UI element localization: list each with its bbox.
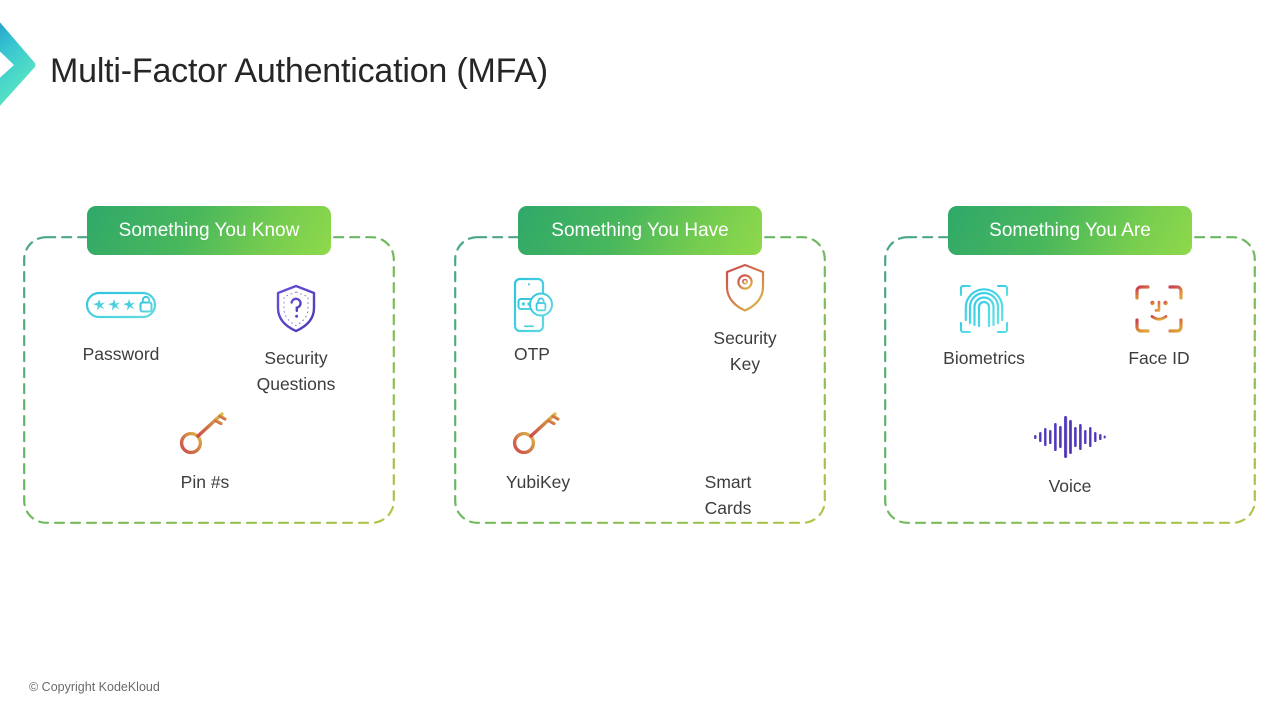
item-voice[interactable]: Voice [995, 406, 1145, 500]
chevron-right-logo [0, 18, 36, 110]
fingerprint-icon [909, 278, 1059, 340]
item-face-id[interactable]: Face ID [1084, 278, 1234, 372]
shield-question-icon [221, 278, 371, 340]
card-title: Something You Know [87, 206, 331, 255]
voice-waveform-icon [995, 406, 1145, 468]
item-security-questions[interactable]: Security Questions [221, 278, 371, 397]
item-label: Pin #s [130, 470, 280, 496]
item-biometrics[interactable]: Biometrics [909, 278, 1059, 372]
phone-lock-icon [457, 274, 607, 336]
item-label: Password [46, 342, 196, 368]
item-label: Face ID [1084, 346, 1234, 372]
card-something-you-know: Something You Know [23, 236, 395, 524]
item-security-key[interactable]: Security Key [670, 258, 820, 377]
item-smart-cards[interactable]: Smart Cards [653, 402, 803, 521]
item-label: Biometrics [909, 346, 1059, 372]
page-title: Multi-Factor Authentication (MFA) [50, 52, 548, 91]
key-icon [130, 402, 280, 464]
copyright-footer: © Copyright KodeKloud [29, 680, 160, 694]
item-pin-numbers[interactable]: Pin #s [130, 402, 280, 496]
face-id-icon [1084, 278, 1234, 340]
item-label: Voice [995, 474, 1145, 500]
item-yubikey[interactable]: YubiKey [463, 402, 613, 496]
key-icon [463, 402, 613, 464]
shield-key-icon [670, 258, 820, 320]
card-something-you-have: Something You Have [454, 236, 826, 524]
item-label: Smart Cards [653, 470, 803, 521]
item-otp[interactable]: OTP [457, 274, 607, 368]
password-field-icon [46, 274, 196, 336]
item-label: Security Key [670, 326, 820, 377]
card-title: Something You Have [518, 206, 762, 255]
item-label: OTP [457, 342, 607, 368]
card-something-you-are: Something You Are [884, 236, 1256, 524]
card-title: Something You Are [948, 206, 1192, 255]
mfa-categories: Something You Know [0, 236, 1280, 528]
smart-cards-icon-placeholder [653, 402, 803, 464]
item-password[interactable]: Password [46, 274, 196, 368]
item-label: Security Questions [221, 346, 371, 397]
item-label: YubiKey [463, 470, 613, 496]
